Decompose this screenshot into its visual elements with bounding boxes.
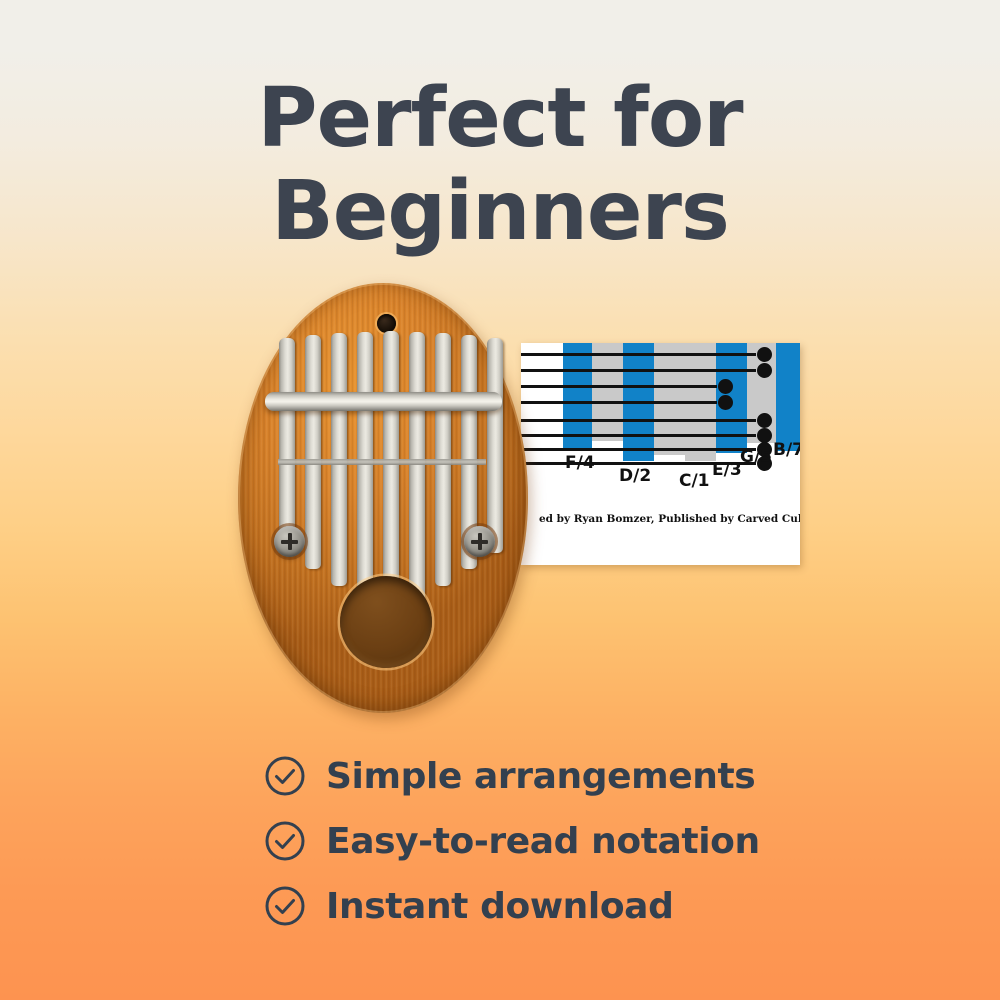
tab-staff-line — [521, 434, 756, 437]
kalimba-tine — [487, 338, 503, 553]
feature-item: Easy-to-read notation — [264, 813, 824, 869]
check-circle-icon — [264, 755, 306, 797]
kalimba-lower-bar — [278, 459, 486, 465]
title-line-1: Perfect for — [0, 72, 1000, 165]
kalimba-screw-left — [274, 526, 305, 557]
kalimba-bridge-bar — [265, 392, 502, 411]
tab-staff-line — [521, 419, 756, 422]
tab-column — [592, 343, 623, 441]
kalimba-sound-hole — [340, 576, 432, 668]
kalimba-tine — [357, 332, 373, 604]
tab-column — [776, 343, 800, 451]
tab-staff-line — [521, 353, 756, 356]
promo-poster: Perfect for Beginners F/4D/2C/1E/3G/5B/7… — [0, 0, 1000, 1000]
tab-note-dot — [757, 413, 772, 428]
tab-column-label: G/5 — [740, 447, 772, 467]
tab-note-dot — [718, 395, 733, 410]
sheet-credit-text: ed by Ryan Bomzer, Published by Carved C… — [539, 513, 800, 525]
tab-note-dot — [757, 428, 772, 443]
tab-column — [654, 343, 685, 455]
feature-label: Simple arrangements — [326, 756, 755, 797]
kalimba-instrument — [238, 283, 528, 713]
tab-note-dot — [718, 379, 733, 394]
feature-item: Simple arrangements — [264, 748, 824, 804]
tab-column-label: C/1 — [679, 471, 710, 491]
tab-staff-line — [521, 369, 756, 372]
feature-label: Easy-to-read notation — [326, 821, 760, 862]
kalimba-tine — [409, 332, 425, 604]
tab-column-label: B/7 — [773, 440, 800, 460]
kalimba-screw-right — [464, 526, 495, 557]
music-sheet: F/4D/2C/1E/3G/5B/7 ed by Ryan Bomzer, Pu… — [521, 343, 800, 565]
tab-staff-line — [521, 385, 717, 388]
check-circle-icon — [264, 820, 306, 862]
check-circle-icon — [264, 885, 306, 927]
tab-column-label: D/2 — [619, 466, 651, 486]
page-title: Perfect for Beginners — [0, 72, 1000, 258]
feature-label: Instant download — [326, 886, 673, 927]
tab-column-label: E/3 — [712, 460, 742, 480]
tab-staff-line — [521, 448, 756, 451]
kalimba-tine — [279, 338, 295, 553]
tab-note-dot — [757, 347, 772, 362]
feature-list: Simple arrangementsEasy-to-read notation… — [264, 748, 824, 943]
tab-column-label: F/4 — [565, 453, 595, 473]
feature-item: Instant download — [264, 878, 824, 934]
title-line-2: Beginners — [0, 165, 1000, 258]
tab-note-dot — [757, 363, 772, 378]
kalimba-tine — [305, 335, 321, 569]
tab-staff-line — [521, 401, 717, 404]
